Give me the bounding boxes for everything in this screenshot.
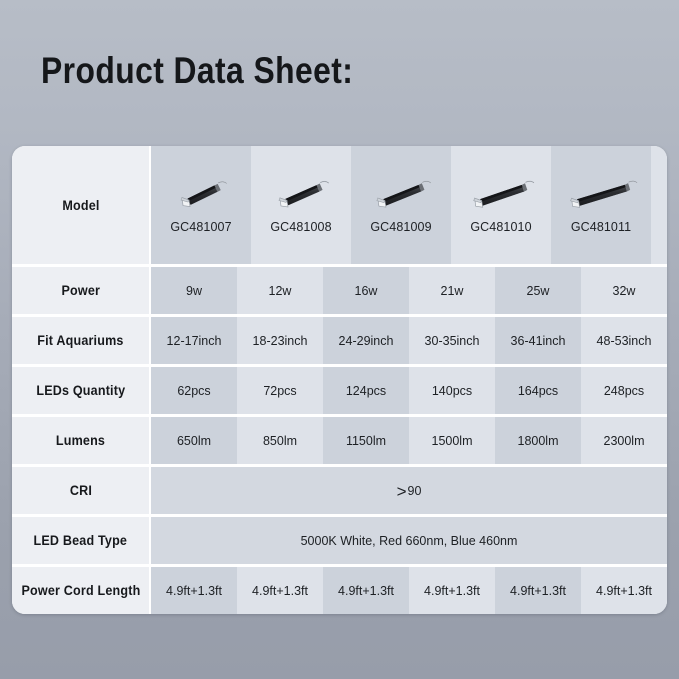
led-light-bar-icon xyxy=(653,160,667,218)
row-label-text: Power Cord Length xyxy=(21,583,140,598)
spec-value-cell: 4.9ft+1.3ft xyxy=(151,567,237,614)
table-row: CRI>90 xyxy=(12,467,667,517)
model-cell: GC481007 xyxy=(151,146,251,264)
spec-value-cell: 1500lm xyxy=(409,417,495,464)
model-code: GC481009 xyxy=(370,220,431,234)
spec-value-cell: 2300lm xyxy=(581,417,667,464)
row-label: Fit Aquariums xyxy=(12,317,151,364)
cri-value-cell: >90 xyxy=(151,467,667,514)
spec-value-cell: 4.9ft+1.3ft xyxy=(495,567,581,614)
led-light-bar-icon xyxy=(253,160,349,218)
spec-value-cell: 1800lm xyxy=(495,417,581,464)
spec-value-cell: 72pcs xyxy=(237,367,323,414)
row-label-text: Fit Aquariums xyxy=(37,333,123,348)
row-cells: 5000K White, Red 660nm, Blue 460nm xyxy=(151,517,667,564)
model-cell: GC481008 xyxy=(251,146,351,264)
model-code: GC481008 xyxy=(270,220,331,234)
product-data-sheet-page: Product Data Sheet: Model GC481007 xyxy=(0,0,679,679)
table-row: Power Cord Length4.9ft+1.3ft4.9ft+1.3ft4… xyxy=(12,567,667,614)
spec-value-cell: 36-41inch xyxy=(495,317,581,364)
row-label: CRI xyxy=(12,467,151,514)
spec-value-cell: 12-17inch xyxy=(151,317,237,364)
spec-value-cell: 850lm xyxy=(237,417,323,464)
model-code: GC481010 xyxy=(470,220,531,234)
table-row: Lumens650lm850lm1150lm1500lm1800lm2300lm xyxy=(12,417,667,467)
row-label: Power Cord Length xyxy=(12,567,151,614)
model-cell: GC481010 xyxy=(451,146,551,264)
row-label-text: Lumens xyxy=(56,433,105,448)
spec-table-body: Model GC481007 xyxy=(12,146,667,614)
row-label-text: LEDs Quantity xyxy=(36,383,125,398)
model-cell: GC481012 xyxy=(651,146,667,264)
spec-value-cell: 248pcs xyxy=(581,367,667,414)
row-cells: 9w12w16w21w25w32w xyxy=(151,267,667,314)
merged-value-cell: 5000K White, Red 660nm, Blue 460nm xyxy=(151,517,667,564)
row-label: Model xyxy=(12,146,151,264)
spec-value-cell: 4.9ft+1.3ft xyxy=(237,567,323,614)
model-code: GC481007 xyxy=(170,220,231,234)
row-label: Lumens xyxy=(12,417,151,464)
spec-value-cell: 48-53inch xyxy=(581,317,667,364)
row-label: Power xyxy=(12,267,151,314)
spec-value-cell: 30-35inch xyxy=(409,317,495,364)
spec-value-cell: 32w xyxy=(581,267,667,314)
row-label: LED Bead Type xyxy=(12,517,151,564)
row-cells: 62pcs72pcs124pcs140pcs164pcs248pcs xyxy=(151,367,667,414)
table-row: Model GC481007 xyxy=(12,146,667,267)
spec-value-cell: 164pcs xyxy=(495,367,581,414)
spec-value-cell: 9w xyxy=(151,267,237,314)
led-light-bar-icon xyxy=(153,160,249,218)
spec-value-cell: 21w xyxy=(409,267,495,314)
spec-value-cell: 18-23inch xyxy=(237,317,323,364)
table-row: Fit Aquariums12-17inch18-23inch24-29inch… xyxy=(12,317,667,367)
row-cells: >90 xyxy=(151,467,667,514)
row-cells: GC481007 GC481008 xyxy=(151,146,667,264)
spec-value-cell: 25w xyxy=(495,267,581,314)
row-label: LEDs Quantity xyxy=(12,367,151,414)
led-light-bar-icon xyxy=(453,160,549,218)
table-row: LEDs Quantity62pcs72pcs124pcs140pcs164pc… xyxy=(12,367,667,417)
row-cells: 650lm850lm1150lm1500lm1800lm2300lm xyxy=(151,417,667,464)
spec-value-cell: 124pcs xyxy=(323,367,409,414)
spec-value-cell: 4.9ft+1.3ft xyxy=(581,567,667,614)
led-light-bar-icon xyxy=(553,160,649,218)
row-label-text: Model xyxy=(62,198,99,213)
model-cell: GC481009 xyxy=(351,146,451,264)
row-label-text: LED Bead Type xyxy=(34,533,128,548)
cri-value: >90 xyxy=(397,482,422,499)
spec-value-cell: 1150lm xyxy=(323,417,409,464)
row-label-text: CRI xyxy=(69,483,91,498)
row-label-text: Power xyxy=(61,283,100,298)
led-light-bar-icon xyxy=(353,160,449,218)
model-cell: GC481011 xyxy=(551,146,651,264)
row-cells: 4.9ft+1.3ft4.9ft+1.3ft4.9ft+1.3ft4.9ft+1… xyxy=(151,567,667,614)
greater-than-icon: > xyxy=(397,483,407,500)
model-code: GC481011 xyxy=(571,220,631,234)
table-row: Power9w12w16w21w25w32w xyxy=(12,267,667,317)
spec-value-cell: 62pcs xyxy=(151,367,237,414)
spec-value-cell: 140pcs xyxy=(409,367,495,414)
page-title: Product Data Sheet: xyxy=(41,50,353,92)
spec-value-cell: 24-29inch xyxy=(323,317,409,364)
cri-number: 90 xyxy=(408,484,422,498)
spec-value-cell: 4.9ft+1.3ft xyxy=(409,567,495,614)
spec-value-cell: 12w xyxy=(237,267,323,314)
spec-value-cell: 16w xyxy=(323,267,409,314)
spec-value-cell: 4.9ft+1.3ft xyxy=(323,567,409,614)
spec-value-cell: 650lm xyxy=(151,417,237,464)
table-row: LED Bead Type5000K White, Red 660nm, Blu… xyxy=(12,517,667,567)
spec-table: Model GC481007 xyxy=(12,146,667,614)
row-cells: 12-17inch18-23inch24-29inch30-35inch36-4… xyxy=(151,317,667,364)
